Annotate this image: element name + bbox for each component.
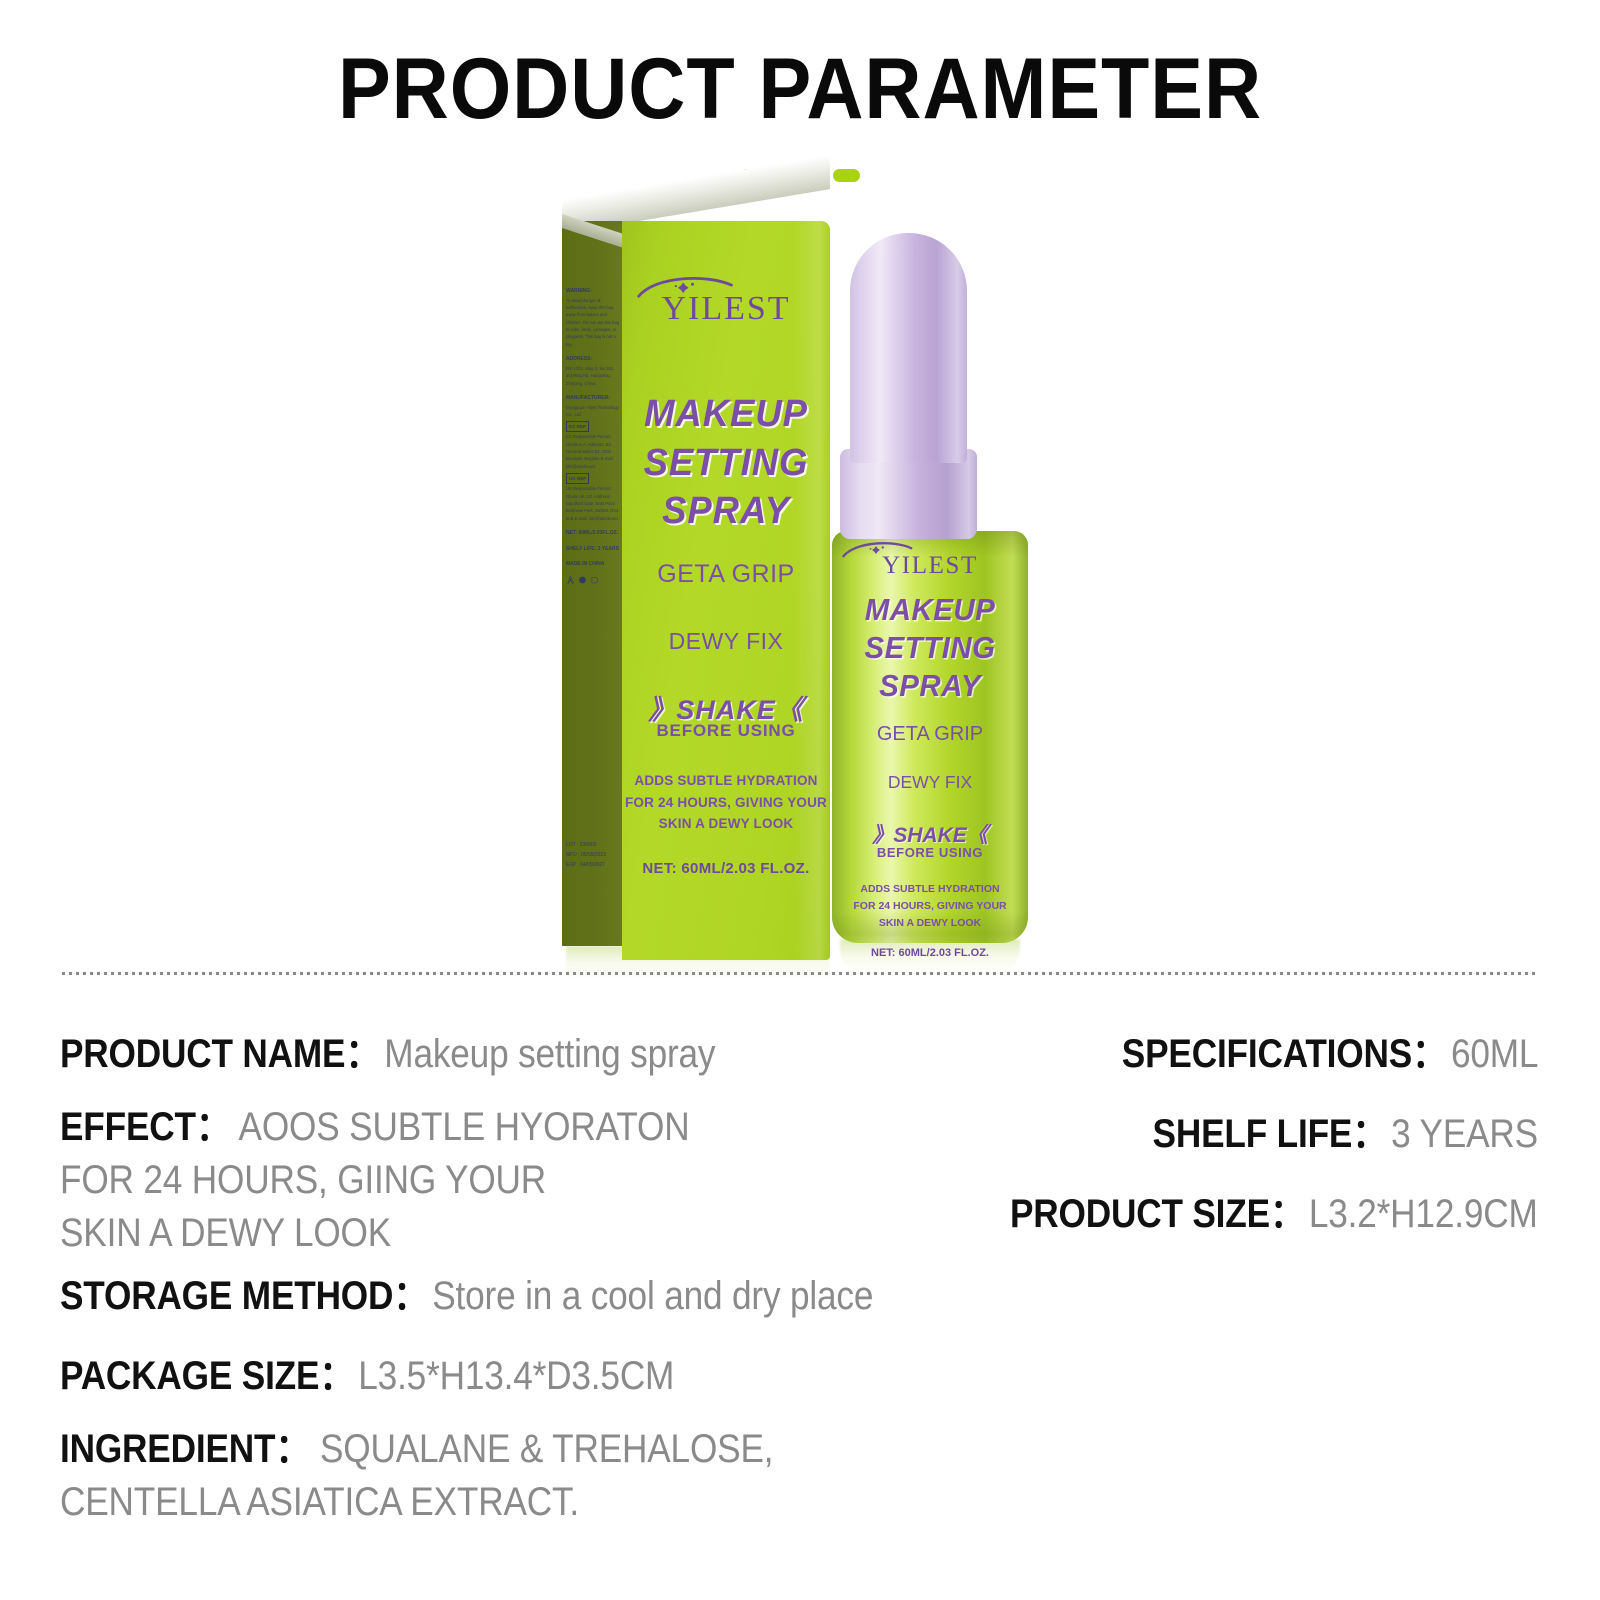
box-front-face [622, 221, 830, 960]
spec-ingredient-block: INGREDIENT： SQUALANE & TREHALOSE, CENTEL… [60, 1423, 773, 1529]
spec-value-effect-line3: SKIN A DEWY LOOK [60, 1207, 689, 1260]
side-warning-body: To avoid danger of suffocation, keep thi… [566, 297, 620, 348]
side-exp: EXP : 04/09/2027 [566, 860, 620, 870]
spec-value-product-size: L3.2*H12.9CM [1309, 1192, 1538, 1236]
period-after-opening-icon [590, 575, 599, 585]
box-headline: MAKEUP SETTING SPRAY [626, 390, 826, 536]
page-title: PRODUCT PARAMETER [64, 46, 1536, 132]
side-address-body: Rm 1202, Bldg 3, No.152, 3rd Ring Rd, Ha… [566, 365, 620, 387]
spec-value-storage-method: Store in a cool and dry place [432, 1274, 873, 1318]
brand-swoosh-icon [634, 274, 738, 300]
side-ec-rep-body: EC Responsible Person: Obelis S.A. Addre… [566, 433, 620, 470]
accent-bar-short [833, 169, 860, 182]
spec-label-storage-method: STORAGE METHOD： [60, 1274, 428, 1318]
side-manufacturer-body: Dongguan Yilest Technology Co., Ltd. [566, 404, 620, 419]
side-ec-rep-label: EC REP [566, 421, 589, 432]
side-net-line: NET: 60ML/2.03FL.OZ. [566, 529, 620, 538]
bottle-net-content: NET: 60ML/2.03 FL.OZ. [832, 947, 1028, 959]
spec-label-effect: EFFECT： [60, 1105, 231, 1149]
box-headline-line2: SETTING [626, 439, 826, 488]
bottle-headline-line3: SPRAY [837, 667, 1023, 705]
section-divider [62, 972, 1538, 975]
spec-label-package-size: PACKAGE SIZE： [60, 1354, 354, 1398]
product-bottle: YILEST MAKEUP SETTING SPRAY GETA GRIP DE… [826, 233, 1036, 973]
green-dot-icon [578, 575, 587, 585]
spec-value-shelf-life: 3 YEARS [1391, 1112, 1538, 1156]
spec-row-specifications: SPECIFICATIONS： 60ML [1065, 1021, 1538, 1079]
bottle-headline-line1: MAKEUP [837, 591, 1023, 629]
side-uk-rep-body: UK Responsible Person: Obelis UK Ltd. Ad… [566, 485, 620, 522]
box-headline-line1: MAKEUP [626, 390, 826, 439]
spec-effect-block: EFFECT： AOOS SUBTLE HYORATON FOR 24 HOUR… [60, 1101, 689, 1259]
spec-label-specifications: SPECIFICATIONS： [1121, 1032, 1446, 1076]
side-lot: LOT : 230905 [566, 840, 620, 850]
spec-label-product-name: PRODUCT NAME： [60, 1032, 380, 1076]
box-claim-geta-grip: GETA GRIP [622, 560, 830, 589]
spec-value-ingredient-line1: SQUALANE & TREHALOSE, [320, 1427, 773, 1471]
side-shelf-line: SHELF LIFE: 3 YEARS [566, 545, 620, 554]
bottle-description: ADDS SUBTLE HYDRATION FOR 24 HOURS, GIVI… [832, 881, 1028, 932]
bottle-shake-subtext: BEFORE USING [832, 845, 1028, 860]
side-warning-head: WARNING: [566, 287, 620, 296]
spec-label-ingredient: INGREDIENT： [60, 1427, 310, 1471]
specification-list: PRODUCT NAME： Makeup setting spray EFFEC… [0, 1005, 1600, 1565]
spec-row-ingredient: INGREDIENT： SQUALANE & TREHALOSE, CENTEL… [60, 1423, 871, 1529]
spec-row-product-size: PRODUCT SIZE： L3.2*H12.9CM [938, 1181, 1538, 1239]
box-claim-dewy-fix: DEWY FIX [622, 628, 830, 655]
spec-row-shelf-life: SHELF LIFE： 3 YEARS [1100, 1101, 1538, 1159]
bottle-headline-line2: SETTING [837, 629, 1023, 667]
product-box: WARNING: To avoid danger of suffocation,… [548, 200, 838, 960]
spec-row-storage-method: STORAGE METHOD： Store in a cool and dry … [60, 1263, 984, 1321]
box-side-panel-text: WARNING: To avoid danger of suffocation,… [566, 280, 620, 588]
bottle-brand-logo: YILEST [832, 553, 1028, 578]
bottle-description-line2: FOR 24 HOURS, GIVING YOUR [832, 898, 1028, 915]
spec-value-package-size: L3.5*H13.4*D3.5CM [358, 1354, 674, 1398]
box-description: ADDS SUBTLE HYDRATION FOR 24 HOURS, GIVI… [622, 770, 830, 835]
product-hero-image: WARNING: To avoid danger of suffocation,… [0, 195, 1600, 975]
side-address-head: ADDRESS: [566, 355, 620, 364]
box-side-batch-codes: LOT : 230905 MFD : 05/09/2023 EXP : 04/0… [566, 840, 620, 870]
spec-value-effect-line2: FOR 24 HOURS, GIING YOUR [60, 1154, 689, 1207]
spec-label-product-size: PRODUCT SIZE： [1010, 1192, 1305, 1236]
spec-row-product-name: PRODUCT NAME： Makeup setting spray [60, 1021, 805, 1079]
side-manufacturer-head: MANUFACTURER: [566, 394, 620, 403]
spec-value-specifications: 60ML [1451, 1032, 1538, 1076]
box-front-sheen [794, 221, 830, 960]
box-shake-subtext: BEFORE USING [622, 721, 830, 741]
box-description-line1: ADDS SUBTLE HYDRATION [622, 770, 830, 792]
box-description-line3: SKIN A DEWY LOOK [622, 813, 830, 835]
spec-label-shelf-life: SHELF LIFE： [1153, 1112, 1388, 1156]
bottle-cap [850, 233, 967, 463]
box-net-content: NET: 60ML/2.03 FL.OZ. [622, 860, 830, 877]
side-mfd: MFD : 05/09/2023 [566, 850, 620, 860]
recycle-icon [566, 575, 575, 585]
box-headline-line3: SPRAY [626, 487, 826, 536]
box-description-line2: FOR 24 HOURS, GIVING YOUR [622, 792, 830, 814]
brand-swoosh-icon [840, 540, 916, 559]
spec-row-effect: EFFECT： AOOS SUBTLE HYORATON FOR 24 HOUR… [60, 1101, 775, 1259]
spec-value-product-name: Makeup setting spray [384, 1032, 715, 1076]
bottle-claim-dewy-fix: DEWY FIX [832, 772, 1028, 793]
side-recycling-icons [566, 575, 620, 585]
spec-value-ingredient-line2: CENTELLA ASIATICA EXTRACT. [60, 1476, 773, 1529]
bottle-headline: MAKEUP SETTING SPRAY [837, 591, 1023, 704]
bottle-description-line3: SKIN A DEWY LOOK [832, 915, 1028, 932]
box-brand-logo: YILEST [622, 292, 830, 326]
side-made-in: MADE IN CHINA [566, 560, 620, 569]
bottle-description-line1: ADDS SUBTLE HYDRATION [832, 881, 1028, 898]
spec-row-package-size: PACKAGE SIZE： L3.5*H13.4*D3.5CM [60, 1343, 758, 1401]
spec-value-effect-line1: AOOS SUBTLE HYORATON [239, 1105, 690, 1149]
side-uk-rep-label: UK REP [566, 473, 589, 484]
bottle-claim-geta-grip: GETA GRIP [832, 723, 1028, 746]
